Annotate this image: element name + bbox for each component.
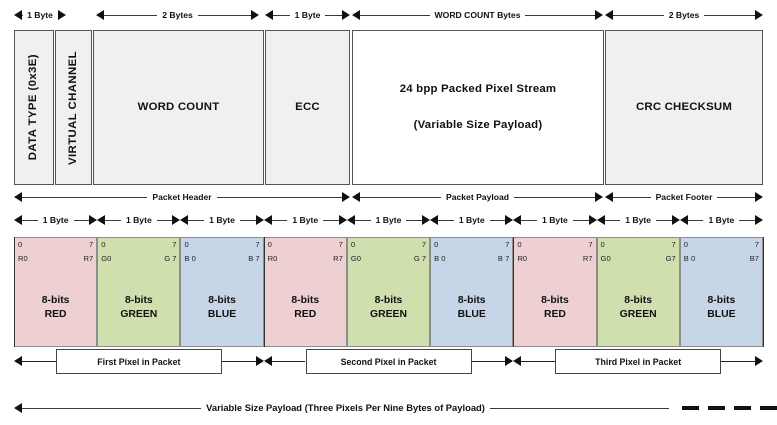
footer-rail: Variable Size Payload (Three Pixels Per … xyxy=(14,401,669,415)
byte-measure-0: 1 Byte xyxy=(14,213,97,227)
byte-cell-label-top: 8-bits xyxy=(98,294,179,308)
signal-name-right: R7 xyxy=(333,254,343,263)
group-separator xyxy=(14,237,15,347)
measure-segment-3: WORD COUNT Bytes xyxy=(352,8,603,22)
byte-cell-label-top: 8-bits xyxy=(15,294,96,308)
signal-name-left: B 0 xyxy=(184,254,195,263)
byte-cell-label: 8-bitsRED xyxy=(514,294,595,322)
footer-rail-label: Variable Size Payload (Three Pixels Per … xyxy=(201,403,490,412)
rail-line xyxy=(360,197,441,198)
bit-index-right: 7 xyxy=(172,240,176,249)
rail-line xyxy=(490,220,506,221)
pixel-caption-third-pixel: Third Pixel in Packet xyxy=(555,349,721,374)
signal-name-right: G 7 xyxy=(164,254,176,263)
signal-name-right: B 7 xyxy=(248,254,259,263)
bit-index-right: 7 xyxy=(505,240,509,249)
arrow-right-icon xyxy=(89,215,97,225)
byte-measure-label: 1 Byte xyxy=(620,216,656,225)
group-separator xyxy=(763,237,764,347)
arrow-right-icon xyxy=(595,192,603,202)
packet-field-virtual-channel: VIRTUAL CHANNEL xyxy=(55,30,92,185)
rail-line xyxy=(217,197,342,198)
measure-label: WORD COUNT Bytes xyxy=(430,11,526,20)
byte-cell-label-bottom: RED xyxy=(265,308,346,322)
signal-name-right: R7 xyxy=(84,254,94,263)
arrow-left-icon xyxy=(265,10,273,20)
dash-segment xyxy=(734,406,751,409)
packet-field-data-type: DATA TYPE (0x3E) xyxy=(14,30,54,185)
rail-line xyxy=(22,361,56,362)
measure-label: 1 Byte xyxy=(22,11,58,20)
packet-field-text: ECC xyxy=(295,97,320,119)
bit-index-left: 0 xyxy=(684,240,688,249)
arrow-right-icon xyxy=(595,10,603,20)
signal-name-left: G0 xyxy=(101,254,111,263)
bit-index-left: 0 xyxy=(351,240,355,249)
byte-cell-third-pixel-green: 07G0G78-bitsGREEN xyxy=(597,237,680,347)
bit-index-right: 7 xyxy=(89,240,93,249)
measure-label: 2 Bytes xyxy=(664,11,705,20)
measure-segment-1: 2 Bytes xyxy=(96,8,259,22)
rail-line xyxy=(323,220,339,221)
arrow-right-icon xyxy=(251,10,259,20)
group-separator xyxy=(513,237,514,347)
signal-name-right: G 7 xyxy=(414,254,426,263)
packet-field-ecc: ECC xyxy=(265,30,350,185)
section-label: Packet Footer xyxy=(651,193,718,202)
bit-index-left: 0 xyxy=(517,240,521,249)
packet-field-text: WORD COUNT xyxy=(138,97,220,119)
measure-segment-2: 1 Byte xyxy=(265,8,350,22)
byte-cell-label-top: 8-bits xyxy=(598,294,679,308)
packet-field-line-1: ECC xyxy=(295,97,320,119)
rail-line xyxy=(739,220,755,221)
byte-measure-label: 1 Byte xyxy=(371,216,407,225)
rail-line xyxy=(222,361,256,362)
rail-line xyxy=(360,15,430,16)
arrow-right-icon xyxy=(342,10,350,20)
arrow-right-icon xyxy=(342,192,350,202)
byte-cell-label: 8-bitsRED xyxy=(15,294,96,322)
arrow-left-icon xyxy=(513,356,521,366)
bit-index-right: 7 xyxy=(755,240,759,249)
byte-cell-label-top: 8-bits xyxy=(681,294,762,308)
byte-cell-second-pixel-blue: 07B 0B 78-bitsBLUE xyxy=(430,237,513,347)
byte-cell-label-top: 8-bits xyxy=(431,294,512,308)
rail-line xyxy=(605,220,621,221)
rail-line xyxy=(22,197,147,198)
byte-cell-label-bottom: RED xyxy=(514,308,595,322)
arrow-right-icon xyxy=(339,215,347,225)
dash-segment xyxy=(682,406,699,409)
rail-line xyxy=(198,15,251,16)
packet-field-text: CRC CHECKSUM xyxy=(636,97,732,119)
byte-measure-label: 1 Byte xyxy=(703,216,739,225)
section-segment-0: Packet Header xyxy=(14,190,350,204)
byte-measure-label: 1 Byte xyxy=(537,216,573,225)
byte-cell-label: 8-bitsBLUE xyxy=(431,294,512,322)
diagram-canvas: 1 Byte2 Bytes1 ByteWORD COUNT Bytes2 Byt… xyxy=(0,0,777,425)
arrow-right-icon xyxy=(505,215,513,225)
arrow-right-icon xyxy=(58,10,66,20)
rail-line xyxy=(688,220,704,221)
spacer xyxy=(400,101,557,115)
byte-cell-label: 8-bitsGREEN xyxy=(598,294,679,322)
byte-cell-label-top: 8-bits xyxy=(265,294,346,308)
byte-cell-label-bottom: GREEN xyxy=(348,308,429,322)
section-segment-1: Packet Payload xyxy=(352,190,603,204)
measure-segment-0: 1 Byte xyxy=(14,8,66,22)
rail-line xyxy=(525,15,595,16)
arrow-left-icon xyxy=(14,215,22,225)
byte-measure-3: 1 Byte xyxy=(264,213,347,227)
section-label: Packet Header xyxy=(147,193,216,202)
arrow-left-icon xyxy=(352,10,360,20)
arrow-left-icon xyxy=(14,403,22,413)
rail-line xyxy=(521,361,555,362)
section-label: Packet Payload xyxy=(441,193,514,202)
byte-cell-first-pixel-red: 07R0R78-bitsRED xyxy=(14,237,97,347)
packet-field-pixel-stream: 24 bpp Packed Pixel Stream(Variable Size… xyxy=(352,30,604,185)
byte-cell-label: 8-bitsBLUE xyxy=(181,294,262,322)
rail-line xyxy=(272,361,306,362)
arrow-left-icon xyxy=(513,215,521,225)
rail-line xyxy=(656,220,672,221)
rail-line xyxy=(613,197,651,198)
rail-line xyxy=(157,220,173,221)
byte-measure-label: 1 Byte xyxy=(121,216,157,225)
byte-cell-label-bottom: GREEN xyxy=(598,308,679,322)
arrow-right-icon xyxy=(256,356,264,366)
rail-line xyxy=(471,361,505,362)
rail-line xyxy=(240,220,256,221)
arrow-right-icon xyxy=(172,215,180,225)
bit-index-right: 7 xyxy=(255,240,259,249)
footer-dashes xyxy=(682,401,777,415)
arrow-left-icon xyxy=(597,215,605,225)
rail-line xyxy=(74,220,90,221)
rail-line xyxy=(721,361,755,362)
byte-measure-label: 1 Byte xyxy=(454,216,490,225)
rail-line xyxy=(521,220,537,221)
dash-segment xyxy=(708,406,725,409)
arrow-right-icon xyxy=(589,215,597,225)
measure-label: 1 Byte xyxy=(290,11,326,20)
rail-line xyxy=(355,220,371,221)
rail-line xyxy=(188,220,204,221)
byte-measure-label: 1 Byte xyxy=(204,216,240,225)
arrow-left-icon xyxy=(180,215,188,225)
signal-name-left: B 0 xyxy=(684,254,695,263)
byte-cell-third-pixel-red: 07R0R78-bitsRED xyxy=(513,237,596,347)
byte-measure-label: 1 Byte xyxy=(38,216,74,225)
bit-index-right: 7 xyxy=(422,240,426,249)
rail-line xyxy=(406,220,422,221)
arrow-left-icon xyxy=(14,10,22,20)
signal-name-left: G0 xyxy=(351,254,361,263)
arrow-right-icon xyxy=(755,356,763,366)
byte-cell-label-top: 8-bits xyxy=(348,294,429,308)
packet-field-line-1: CRC CHECKSUM xyxy=(636,97,732,119)
section-segment-2: Packet Footer xyxy=(605,190,763,204)
byte-measure-5: 1 Byte xyxy=(430,213,513,227)
arrow-left-icon xyxy=(347,215,355,225)
rail-line xyxy=(104,15,157,16)
byte-cell-third-pixel-blue: 07B 0B78-bitsBLUE xyxy=(680,237,763,347)
pixel-caption-first-pixel: First Pixel in Packet xyxy=(56,349,222,374)
arrow-right-icon xyxy=(755,215,763,225)
bit-index-right: 7 xyxy=(339,240,343,249)
packet-field-text: 24 bpp Packed Pixel Stream(Variable Size… xyxy=(400,79,557,136)
signal-name-left: R0 xyxy=(517,254,527,263)
arrow-left-icon xyxy=(605,10,613,20)
packet-field-text: DATA TYPE (0x3E) xyxy=(23,54,45,160)
arrow-right-icon xyxy=(505,356,513,366)
arrow-right-icon xyxy=(672,215,680,225)
rail-line xyxy=(514,197,595,198)
signal-name-left: G0 xyxy=(601,254,611,263)
measure-label: 2 Bytes xyxy=(157,11,198,20)
measure-segment-4: 2 Bytes xyxy=(605,8,763,22)
byte-measure-label: 1 Byte xyxy=(287,216,323,225)
rail-line xyxy=(22,220,38,221)
pixel-byte-row: 07R0R78-bitsRED07G0G 78-bitsGREEN07B 0B … xyxy=(14,237,763,347)
byte-measure-2: 1 Byte xyxy=(180,213,263,227)
byte-cell-label: 8-bitsGREEN xyxy=(98,294,179,322)
arrow-left-icon xyxy=(605,192,613,202)
group-separator xyxy=(264,237,265,347)
arrow-left-icon xyxy=(14,356,22,366)
byte-cell-label-bottom: GREEN xyxy=(98,308,179,322)
signal-name-right: G7 xyxy=(666,254,676,263)
arrow-left-icon xyxy=(96,10,104,20)
signal-name-left: B 0 xyxy=(434,254,445,263)
byte-cell-label-bottom: RED xyxy=(15,308,96,322)
bit-index-left: 0 xyxy=(434,240,438,249)
rail-line xyxy=(272,220,288,221)
rail-line xyxy=(613,15,664,16)
arrow-left-icon xyxy=(680,215,688,225)
byte-cell-label-bottom: BLUE xyxy=(181,308,262,322)
byte-cell-second-pixel-red: 07R0R78-bitsRED xyxy=(264,237,347,347)
arrow-right-icon xyxy=(755,192,763,202)
rail-line xyxy=(105,220,121,221)
byte-cell-label: 8-bitsGREEN xyxy=(348,294,429,322)
byte-measure-1: 1 Byte xyxy=(97,213,180,227)
byte-cell-first-pixel-blue: 07B 0B 78-bitsBLUE xyxy=(180,237,263,347)
rail-line xyxy=(704,15,755,16)
arrow-left-icon xyxy=(264,356,272,366)
dash-segment xyxy=(760,406,777,409)
rail-line xyxy=(325,15,342,16)
byte-cell-second-pixel-green: 07G0G 78-bitsGREEN xyxy=(347,237,430,347)
bit-index-right: 7 xyxy=(588,240,592,249)
packet-field-line-1: WORD COUNT xyxy=(138,97,220,119)
byte-cell-label-top: 8-bits xyxy=(514,294,595,308)
rail-line xyxy=(573,220,589,221)
bit-index-left: 0 xyxy=(101,240,105,249)
signal-name-right: R7 xyxy=(583,254,593,263)
packet-field-crc-checksum: CRC CHECKSUM xyxy=(605,30,763,185)
arrow-left-icon xyxy=(14,192,22,202)
rail-line xyxy=(273,15,290,16)
arrow-left-icon xyxy=(264,215,272,225)
byte-cell-label: 8-bitsBLUE xyxy=(681,294,762,322)
packet-field-line-1: 24 bpp Packed Pixel Stream xyxy=(400,79,557,101)
packet-field-text: VIRTUAL CHANNEL xyxy=(63,51,85,165)
rail-line xyxy=(717,197,755,198)
arrow-right-icon xyxy=(256,215,264,225)
byte-measure-8: 1 Byte xyxy=(680,213,763,227)
byte-cell-label-bottom: BLUE xyxy=(431,308,512,322)
bit-index-left: 0 xyxy=(184,240,188,249)
arrow-right-icon xyxy=(755,10,763,20)
byte-cell-first-pixel-green: 07G0G 78-bitsGREEN xyxy=(97,237,180,347)
rail-line xyxy=(22,408,201,409)
arrow-right-icon xyxy=(422,215,430,225)
arrow-left-icon xyxy=(352,192,360,202)
bit-index-right: 7 xyxy=(672,240,676,249)
rail-line xyxy=(490,408,669,409)
byte-measure-7: 1 Byte xyxy=(597,213,680,227)
signal-name-right: B 7 xyxy=(498,254,509,263)
byte-measure-6: 1 Byte xyxy=(513,213,596,227)
bit-index-left: 0 xyxy=(601,240,605,249)
pixel-caption-second-pixel: Second Pixel in Packet xyxy=(306,349,472,374)
arrow-left-icon xyxy=(430,215,438,225)
byte-measure-4: 1 Byte xyxy=(347,213,430,227)
packet-field-word-count: WORD COUNT xyxy=(93,30,264,185)
bit-index-left: 0 xyxy=(18,240,22,249)
signal-name-left: R0 xyxy=(268,254,278,263)
arrow-left-icon xyxy=(97,215,105,225)
signal-name-left: R0 xyxy=(18,254,28,263)
byte-cell-label-bottom: BLUE xyxy=(681,308,762,322)
byte-cell-label: 8-bitsRED xyxy=(265,294,346,322)
bit-index-left: 0 xyxy=(268,240,272,249)
rail-line xyxy=(438,220,454,221)
packet-field-line-2: (Variable Size Payload) xyxy=(400,115,557,137)
byte-cell-label-top: 8-bits xyxy=(181,294,262,308)
signal-name-right: B7 xyxy=(750,254,759,263)
